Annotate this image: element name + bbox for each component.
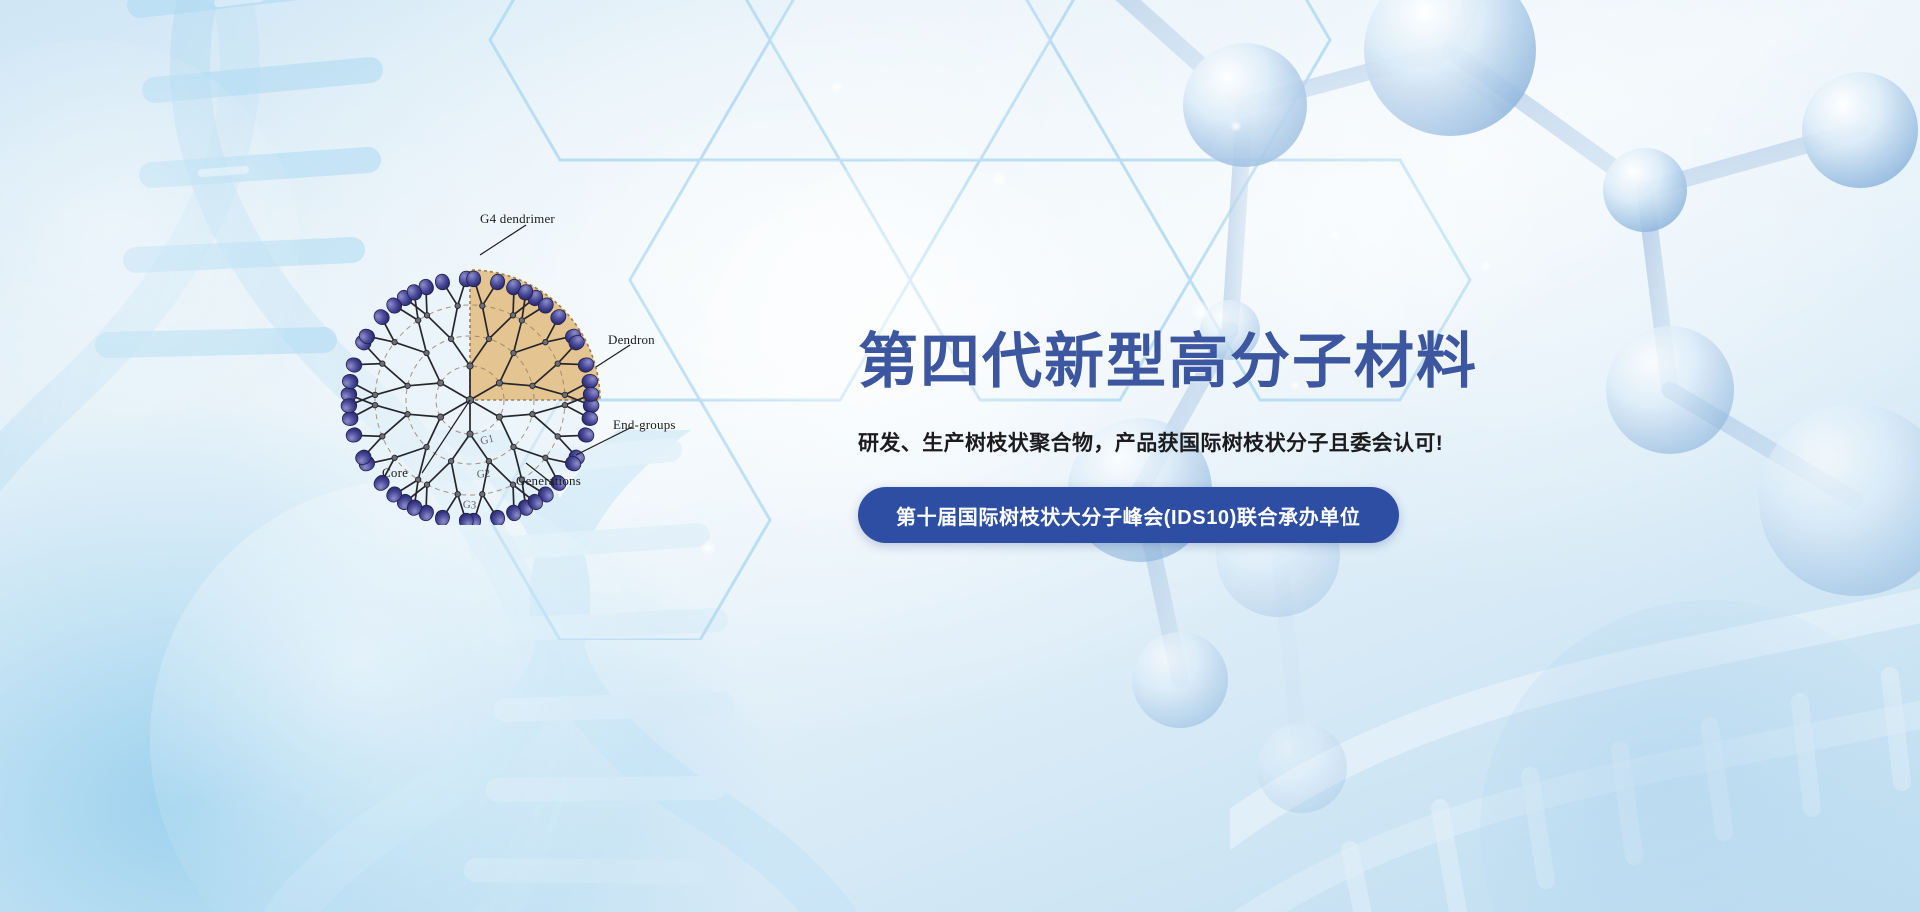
label-generations: Generations	[516, 473, 581, 489]
svg-text:G3: G3	[462, 499, 477, 512]
label-core: Core	[382, 465, 408, 481]
light-bokeh-icon	[1480, 600, 1920, 912]
dendrimer-illustration: G1G2G3 G4 dendrimer Dendron End-groups C…	[330, 215, 690, 525]
svg-text:G2: G2	[476, 468, 490, 481]
sparkle-icon	[1480, 260, 1492, 272]
label-dendron: Dendron	[608, 332, 655, 348]
leader-line-dendron	[596, 345, 630, 367]
label-end-groups: End-groups	[613, 417, 676, 433]
light-bokeh-icon	[150, 480, 670, 912]
sparkle-icon	[990, 170, 1008, 188]
label-g4-dendrimer: G4 dendrimer	[480, 211, 555, 227]
sparkle-icon	[1330, 230, 1339, 239]
sparkle-icon	[700, 540, 716, 556]
page-title: 第四代新型高分子材料	[858, 330, 1578, 393]
sparkle-icon	[1190, 300, 1212, 322]
hero-banner: G1G2G3 G4 dendrimer Dendron End-groups C…	[0, 0, 1920, 912]
light-bokeh-icon	[0, 40, 300, 460]
molecule-network-icon	[1120, 520, 1640, 912]
sparkle-icon	[1230, 120, 1242, 132]
hero-content: 第四代新型高分子材料 研发、生产树枝状聚合物，产品获国际树枝状分子且委会认可! …	[858, 330, 1578, 543]
hero-subtitle: 研发、生产树枝状聚合物，产品获国际树枝状分子且委会认可!	[858, 427, 1578, 457]
leader-line-g4	[480, 225, 526, 255]
sparkle-icon	[830, 80, 844, 94]
ids10-cobrand-button[interactable]: 第十届国际树枝状大分子峰会(IDS10)联合承办单位	[858, 487, 1399, 543]
dna-helix-icon	[1230, 560, 1920, 912]
